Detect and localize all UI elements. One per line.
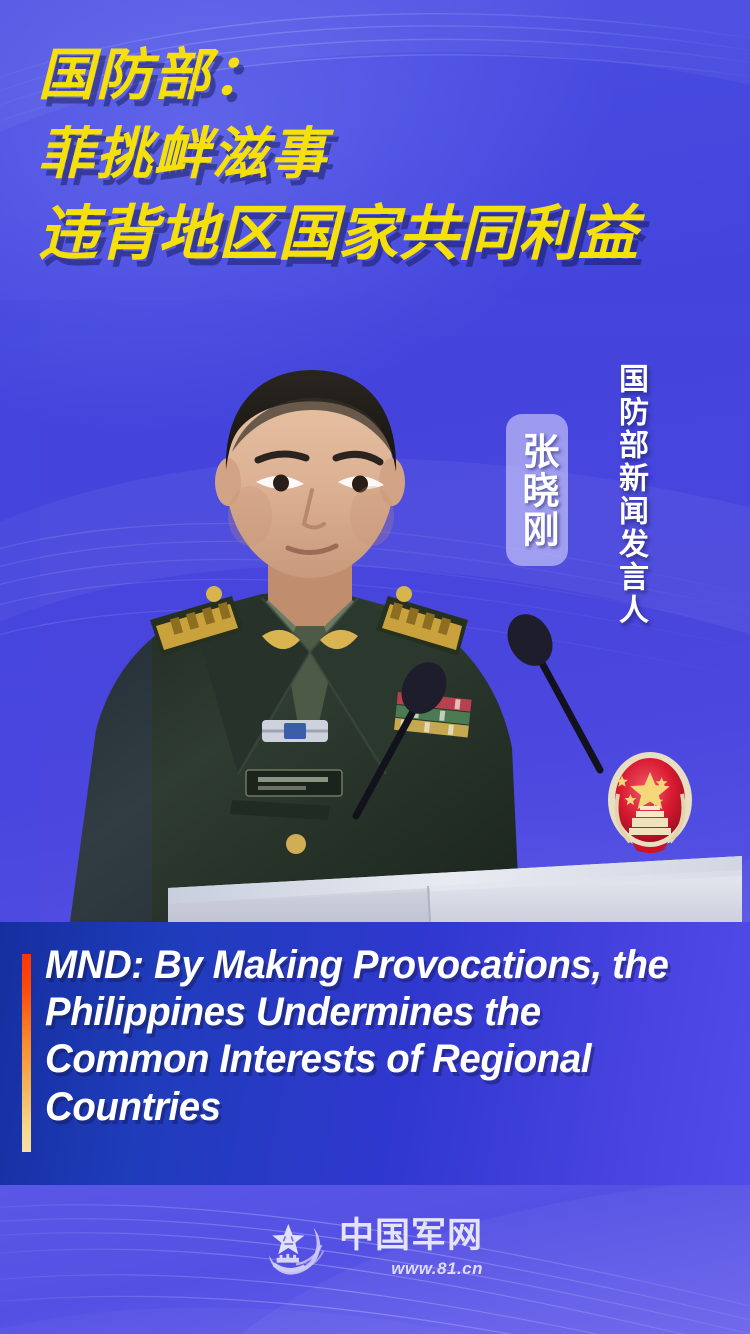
headline-chinese: 国防部： 菲挑衅滋事 违背地区国家共同利益 [38, 46, 738, 266]
headline-cn-line-2: 菲挑衅滋事 [38, 125, 738, 184]
logo-brand-cn: 中国军网 [339, 1219, 483, 1254]
national-emblem-of-china [608, 752, 692, 853]
spokesperson-name: 张晓刚 [510, 432, 564, 549]
microphone-right [499, 606, 600, 770]
spokesperson-name-badge: 张晓刚 [506, 414, 568, 566]
headline-cn-line-3: 违背地区国家共同利益 [38, 203, 738, 267]
spokesperson-title: 国防部新闻发言人 [608, 363, 652, 627]
news-poster: 国防部： 菲挑衅滋事 违背地区国家共同利益 国防部新闻发言人 张晓刚 MND: … [0, 0, 750, 1334]
bayi-star-logo-icon [267, 1218, 329, 1280]
site-logo[interactable]: 中国军网 www.81.cn [267, 1218, 483, 1280]
headline-english-band: MND: By Making Provocations, the Philipp… [0, 922, 750, 1185]
accent-gradient-bar [22, 954, 31, 1152]
logo-wordmark: 中国军网 www.81.cn [339, 1219, 483, 1279]
headline-english: MND: By Making Provocations, the Philipp… [45, 942, 709, 1131]
headline-cn-line-1: 国防部： [38, 46, 738, 105]
logo-url: www.81.cn [391, 1259, 483, 1279]
